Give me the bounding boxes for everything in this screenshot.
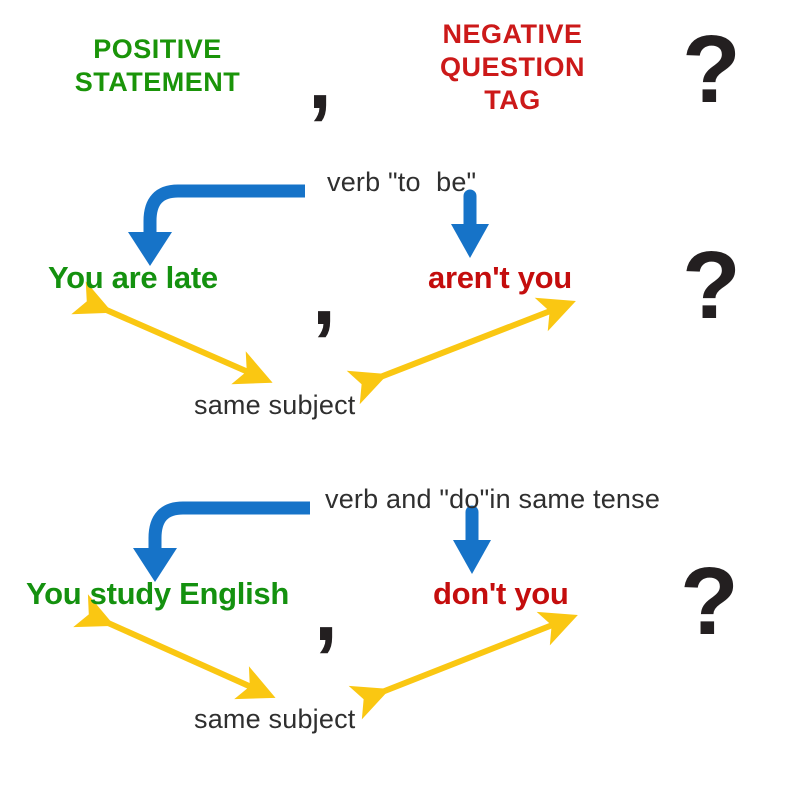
example-2-subject-note: same subject [194, 706, 355, 733]
example-2-question-mark: ? [680, 554, 739, 650]
example-1-subject-note: same subject [194, 392, 355, 419]
example-1-tag: aren't you [428, 262, 572, 293]
example-1-question-mark: ? [682, 238, 741, 334]
yellow-double-arrow-right-2 [372, 622, 560, 696]
question-tag-diagram: POSITIVE STATEMENT , NEGATIVE QUESTION T… [0, 0, 800, 800]
example-2-statement: You study English [26, 578, 289, 609]
example-2-tag: don't you [433, 578, 569, 609]
yellow-double-arrow-left-2 [97, 618, 258, 690]
header-question-mark: ? [682, 22, 741, 118]
header-negative-question-tag: NEGATIVE QUESTION TAG [400, 18, 625, 117]
blue-elbow-arrow-2 [133, 508, 310, 582]
example-1-statement: You are late [48, 262, 218, 293]
example-2-comma: , [314, 568, 338, 654]
blue-down-arrow-1 [451, 196, 489, 258]
yellow-double-arrow-right-1 [370, 308, 558, 381]
example-1-comma: , [312, 252, 336, 338]
example-2-rule-note: verb and "do"in same tense [325, 486, 660, 513]
blue-down-arrow-2 [453, 512, 491, 574]
header-comma: , [308, 36, 332, 122]
arrow-layer [0, 0, 800, 800]
blue-elbow-arrow-1 [128, 191, 305, 266]
example-1-rule-note: verb "to be" [327, 169, 476, 196]
yellow-double-arrow-left-1 [95, 305, 255, 375]
header-positive-statement: POSITIVE STATEMENT [50, 33, 265, 99]
